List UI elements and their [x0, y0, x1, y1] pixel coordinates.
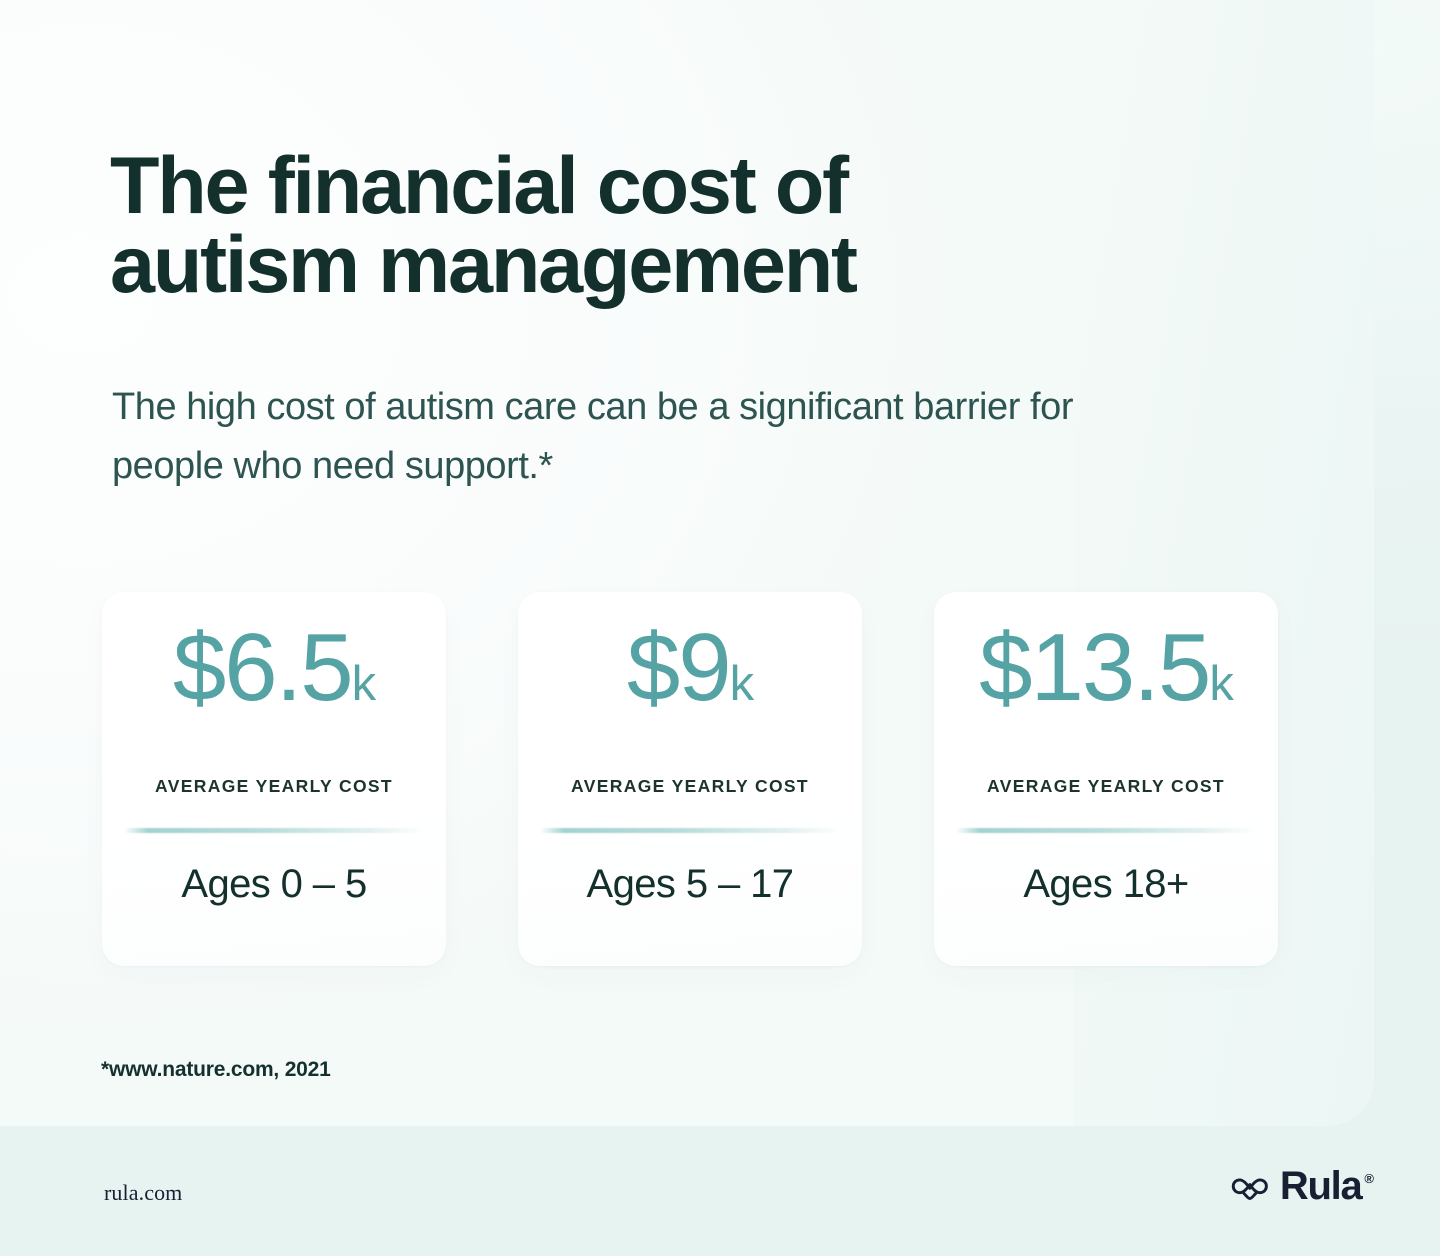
stat-card: $9k AVERAGE YEARLY COST Ages 5 – 17 — [518, 592, 862, 966]
stat-age-range: Ages 18+ — [934, 862, 1278, 907]
brand-logo: Rula ® — [1229, 1166, 1374, 1206]
stat-measure-label: AVERAGE YEARLY COST — [934, 776, 1278, 797]
stat-card-group: $6.5k AVERAGE YEARLY COST Ages 0 – 5 $9k… — [102, 592, 1278, 966]
stat-value-number: $9 — [627, 614, 730, 721]
stat-value-number: $6.5 — [173, 614, 352, 721]
stat-value: $6.5k — [102, 620, 446, 716]
stat-age-range: Ages 5 – 17 — [518, 862, 862, 907]
source-citation: *www.nature.com, 2021 — [101, 1058, 331, 1082]
brand-wordmark: Rula — [1280, 1166, 1361, 1206]
stat-value-unit: k — [1209, 657, 1233, 711]
rula-trefoil-knot-icon — [1229, 1172, 1271, 1204]
brand-trademark-symbol: ® — [1364, 1171, 1374, 1186]
stat-measure-label: AVERAGE YEARLY COST — [518, 776, 862, 797]
footer-website-url[interactable]: rula.com — [104, 1180, 182, 1206]
stat-value-unit: k — [730, 657, 754, 711]
card-divider — [124, 828, 424, 833]
infographic-canvas: The financial cost of autism management … — [0, 0, 1440, 1256]
page-subtitle: The high cost of autism care can be a si… — [112, 378, 1112, 496]
card-divider — [540, 828, 840, 833]
stat-card: $6.5k AVERAGE YEARLY COST Ages 0 – 5 — [102, 592, 446, 966]
stat-measure-label: AVERAGE YEARLY COST — [102, 776, 446, 797]
page-title: The financial cost of autism management — [110, 147, 990, 304]
stat-card: $13.5k AVERAGE YEARLY COST Ages 18+ — [934, 592, 1278, 966]
stat-value: $9k — [518, 620, 862, 716]
stat-value: $13.5k — [934, 620, 1278, 716]
stat-value-unit: k — [352, 657, 376, 711]
stat-value-number: $13.5 — [979, 614, 1209, 721]
stat-age-range: Ages 0 – 5 — [102, 862, 446, 907]
card-divider — [956, 828, 1256, 833]
